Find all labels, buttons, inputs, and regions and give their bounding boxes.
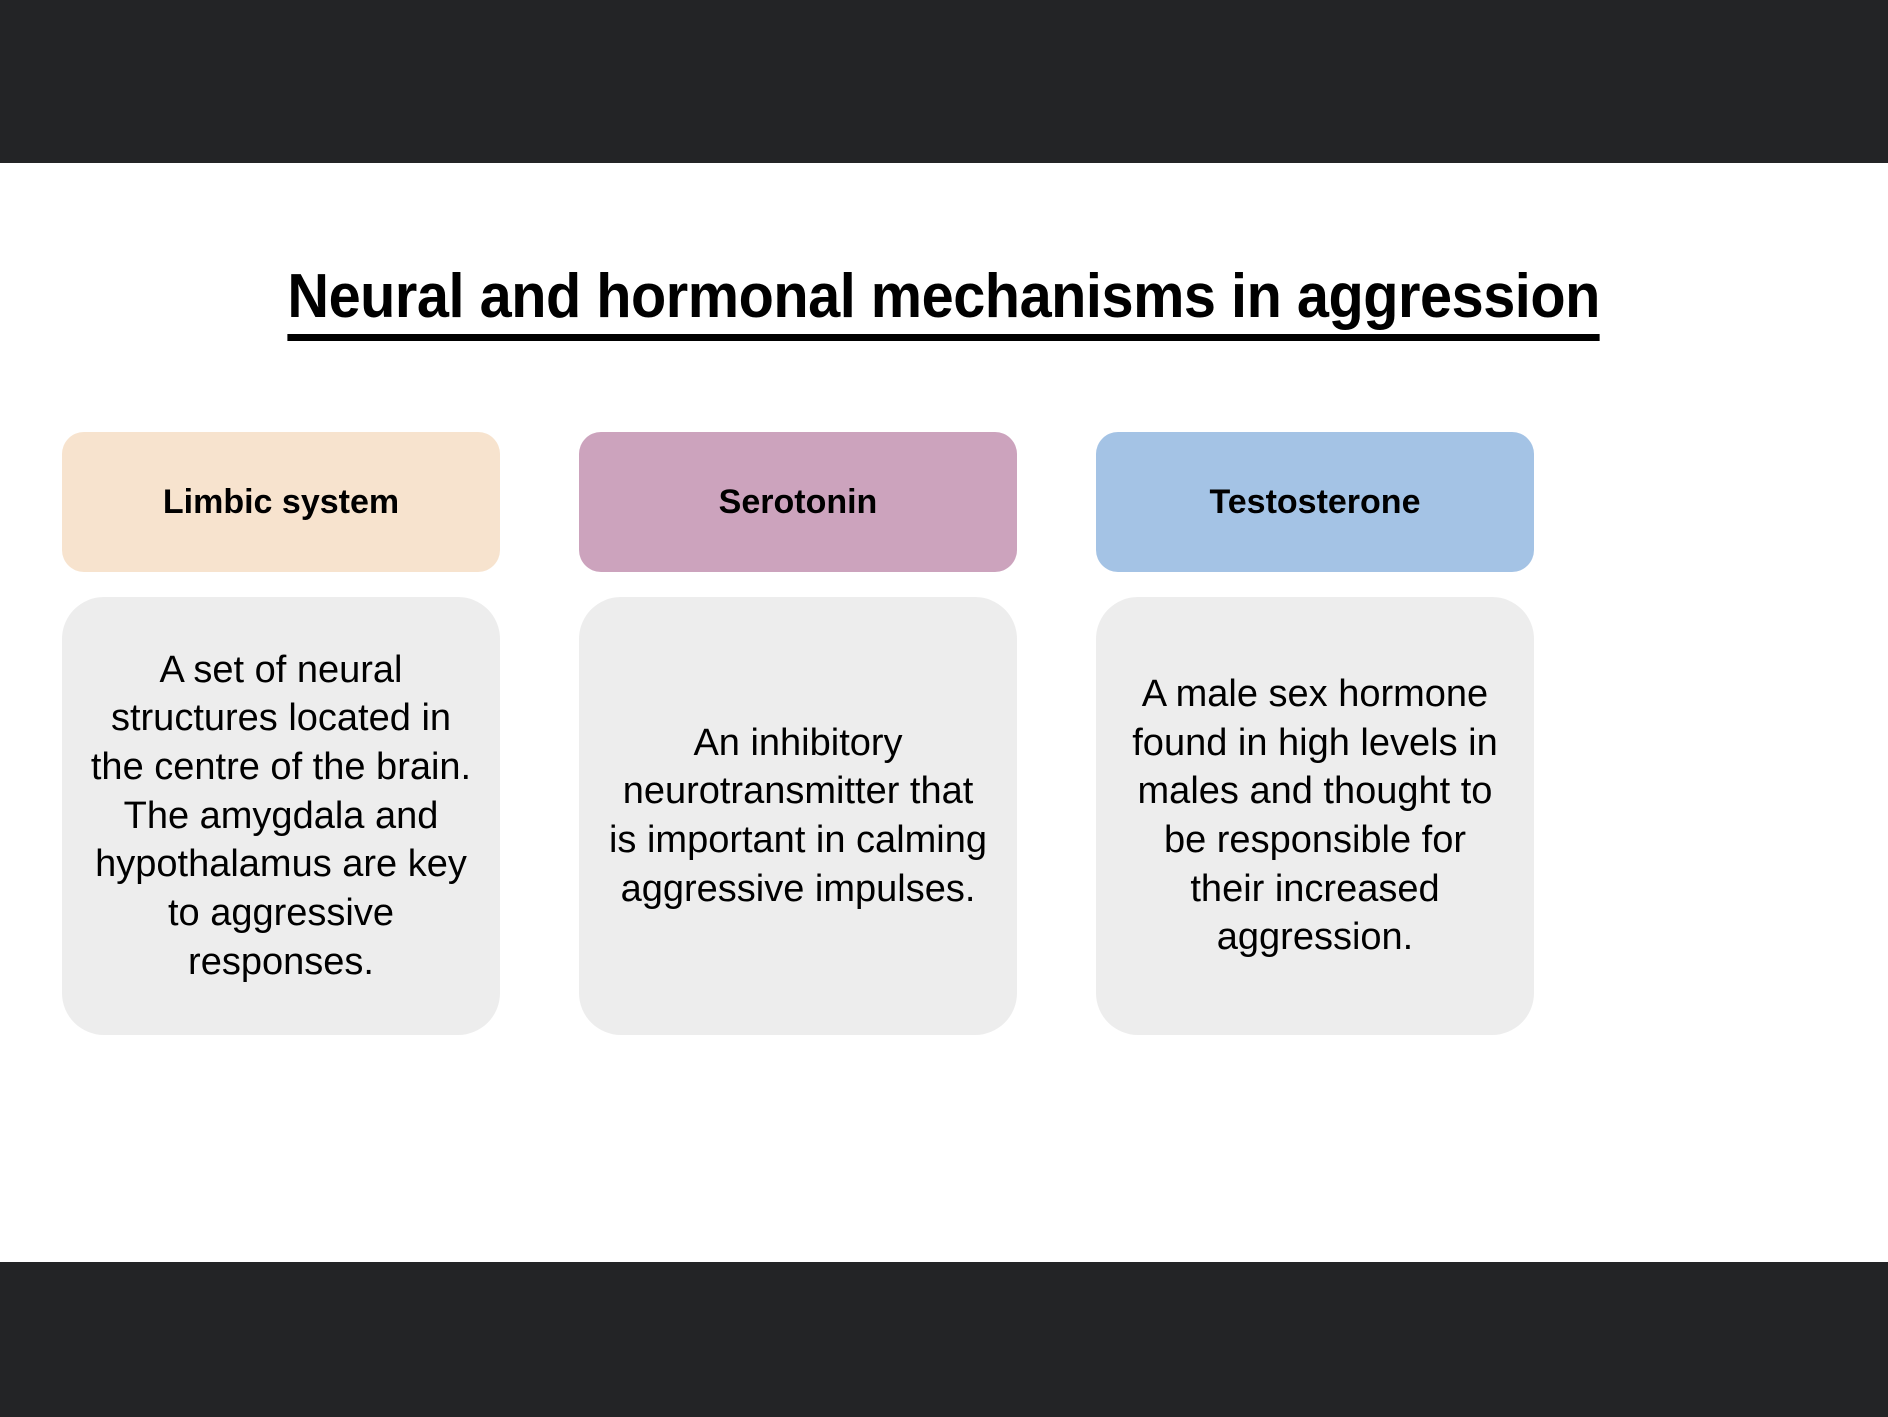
column-body-limbic-system[interactable]: A set of neural structures located in th…: [62, 597, 500, 1035]
column-header-serotonin[interactable]: Serotonin: [579, 432, 1017, 572]
column-header-limbic-system[interactable]: Limbic system: [62, 432, 500, 572]
column-header-label: Serotonin: [719, 482, 878, 523]
letterbox-bottom-bar: [0, 1262, 1888, 1417]
column-body-serotonin[interactable]: An inhibitory neurotransmitter that is i…: [579, 597, 1017, 1035]
column-body-text: A male sex hormone found in high levels …: [1122, 670, 1508, 962]
columns-container: Limbic system A set of neural structures…: [62, 432, 1534, 1035]
column-header-label: Limbic system: [163, 482, 399, 523]
presentation-screen: Neural and hormonal mechanisms in aggres…: [0, 0, 1888, 1417]
page-title: Neural and hormonal mechanisms in aggres…: [0, 263, 1888, 341]
column-body-testosterone[interactable]: A male sex hormone found in high levels …: [1096, 597, 1534, 1035]
column-serotonin: Serotonin An inhibitory neurotransmitter…: [579, 432, 1017, 1035]
column-header-testosterone[interactable]: Testosterone: [1096, 432, 1534, 572]
column-header-label: Testosterone: [1210, 482, 1421, 523]
letterbox-top-bar: [0, 0, 1888, 163]
column-testosterone: Testosterone A male sex hormone found in…: [1096, 432, 1534, 1035]
slide-canvas: Neural and hormonal mechanisms in aggres…: [0, 163, 1888, 1262]
page-title-text: Neural and hormonal mechanisms in aggres…: [288, 263, 1600, 341]
column-body-text: An inhibitory neurotransmitter that is i…: [605, 719, 991, 914]
column-body-text: A set of neural structures located in th…: [88, 646, 474, 986]
column-limbic-system: Limbic system A set of neural structures…: [62, 432, 500, 1035]
